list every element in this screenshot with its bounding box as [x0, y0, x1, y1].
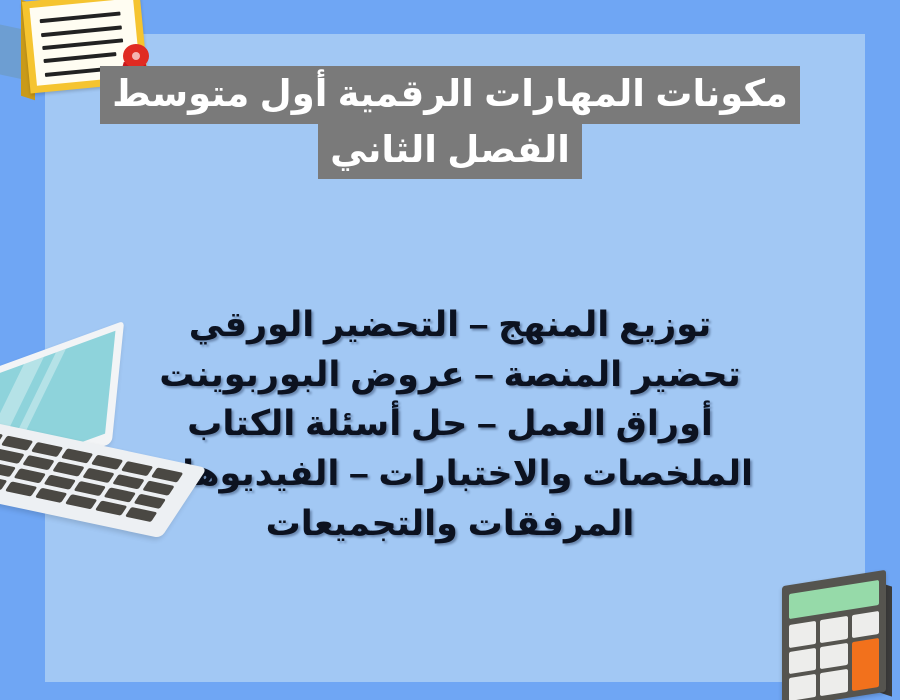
poster-canvas: مكونات المهارات الرقمية أول متوسط الفصل … — [0, 0, 900, 700]
title-row-2: الفصل الثاني — [0, 122, 900, 180]
certificate-text-line — [43, 38, 124, 50]
calculator-button — [789, 674, 816, 700]
laptop-key — [52, 461, 84, 476]
body-line-1: توزيع المنهج – التحضير الورقي — [0, 300, 900, 350]
laptop-key — [61, 448, 93, 463]
certificate-text-line — [41, 25, 122, 37]
laptop-key — [142, 481, 174, 496]
title-line-2: الفصل الثاني — [318, 122, 582, 180]
laptop-key — [44, 475, 76, 490]
title-row-1: مكونات المهارات الرقمية أول متوسط — [0, 66, 900, 124]
laptop-key — [91, 455, 123, 470]
laptop-key — [112, 474, 144, 489]
calculator-button — [820, 616, 847, 643]
calculator-body — [782, 570, 886, 700]
poster-title: مكونات المهارات الرقمية أول متوسط الفصل … — [0, 66, 900, 179]
calculator-icon — [778, 578, 900, 700]
laptop-key — [5, 481, 37, 496]
certificate-text-line — [40, 12, 121, 24]
calculator-button — [789, 621, 816, 648]
laptop-key — [31, 442, 63, 457]
laptop-key — [125, 507, 157, 522]
laptop-key — [0, 462, 16, 477]
laptop-key — [134, 494, 166, 509]
laptop-icon — [0, 352, 208, 552]
calculator-keypad — [789, 611, 879, 700]
laptop-key — [65, 494, 97, 509]
calculator-button — [789, 647, 816, 674]
calculator-button — [820, 642, 847, 669]
laptop-key — [74, 481, 106, 496]
laptop-key — [14, 468, 46, 483]
laptop-key — [1, 436, 33, 451]
laptop-keyboard — [0, 429, 183, 522]
laptop-key — [151, 467, 183, 482]
laptop-key — [0, 449, 25, 464]
calculator-button — [820, 669, 847, 696]
laptop-key — [22, 455, 54, 470]
title-line-1: مكونات المهارات الرقمية أول متوسط — [100, 66, 800, 124]
calculator-button-accent — [852, 638, 879, 692]
laptop-key — [95, 501, 127, 516]
laptop-key — [121, 461, 153, 476]
seal-rosette — [123, 44, 149, 68]
laptop-key — [35, 488, 67, 503]
certificate-text-line — [44, 52, 117, 63]
laptop-key — [104, 487, 136, 502]
laptop-key — [82, 468, 114, 483]
calculator-button — [852, 611, 879, 638]
